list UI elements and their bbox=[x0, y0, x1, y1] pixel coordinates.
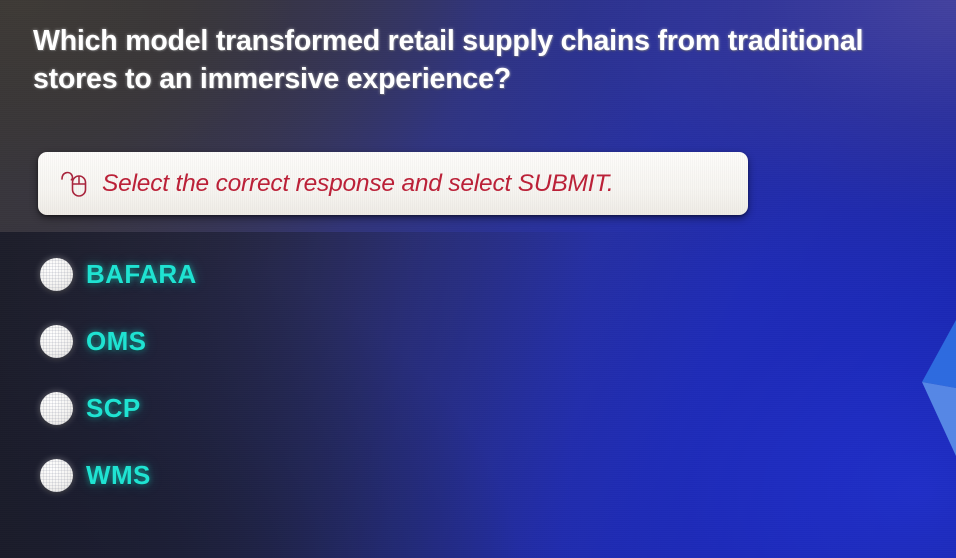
option-wms[interactable]: WMS bbox=[40, 453, 197, 497]
radio-button-scp[interactable] bbox=[40, 392, 73, 425]
radio-button-wms[interactable] bbox=[40, 459, 73, 492]
instruction-card: Select the correct response and select S… bbox=[38, 152, 748, 215]
option-bafara[interactable]: BAFARA bbox=[40, 252, 197, 296]
answer-options-list: BAFARA OMS SCP WMS bbox=[40, 252, 197, 520]
option-label-wms: WMS bbox=[86, 460, 151, 491]
chevron-left-decoration bbox=[904, 310, 956, 470]
option-oms[interactable]: OMS bbox=[40, 319, 197, 363]
question-text: Which model transformed retail supply ch… bbox=[33, 22, 945, 98]
radio-button-bafara[interactable] bbox=[40, 258, 73, 291]
quiz-screen: Which model transformed retail supply ch… bbox=[0, 0, 956, 558]
option-label-oms: OMS bbox=[86, 326, 146, 357]
instruction-text: Select the correct response and select S… bbox=[102, 170, 613, 198]
option-scp[interactable]: SCP bbox=[40, 386, 197, 430]
option-label-scp: SCP bbox=[86, 393, 141, 424]
mouse-icon bbox=[60, 168, 90, 200]
radio-button-oms[interactable] bbox=[40, 325, 73, 358]
option-label-bafara: BAFARA bbox=[86, 259, 197, 290]
